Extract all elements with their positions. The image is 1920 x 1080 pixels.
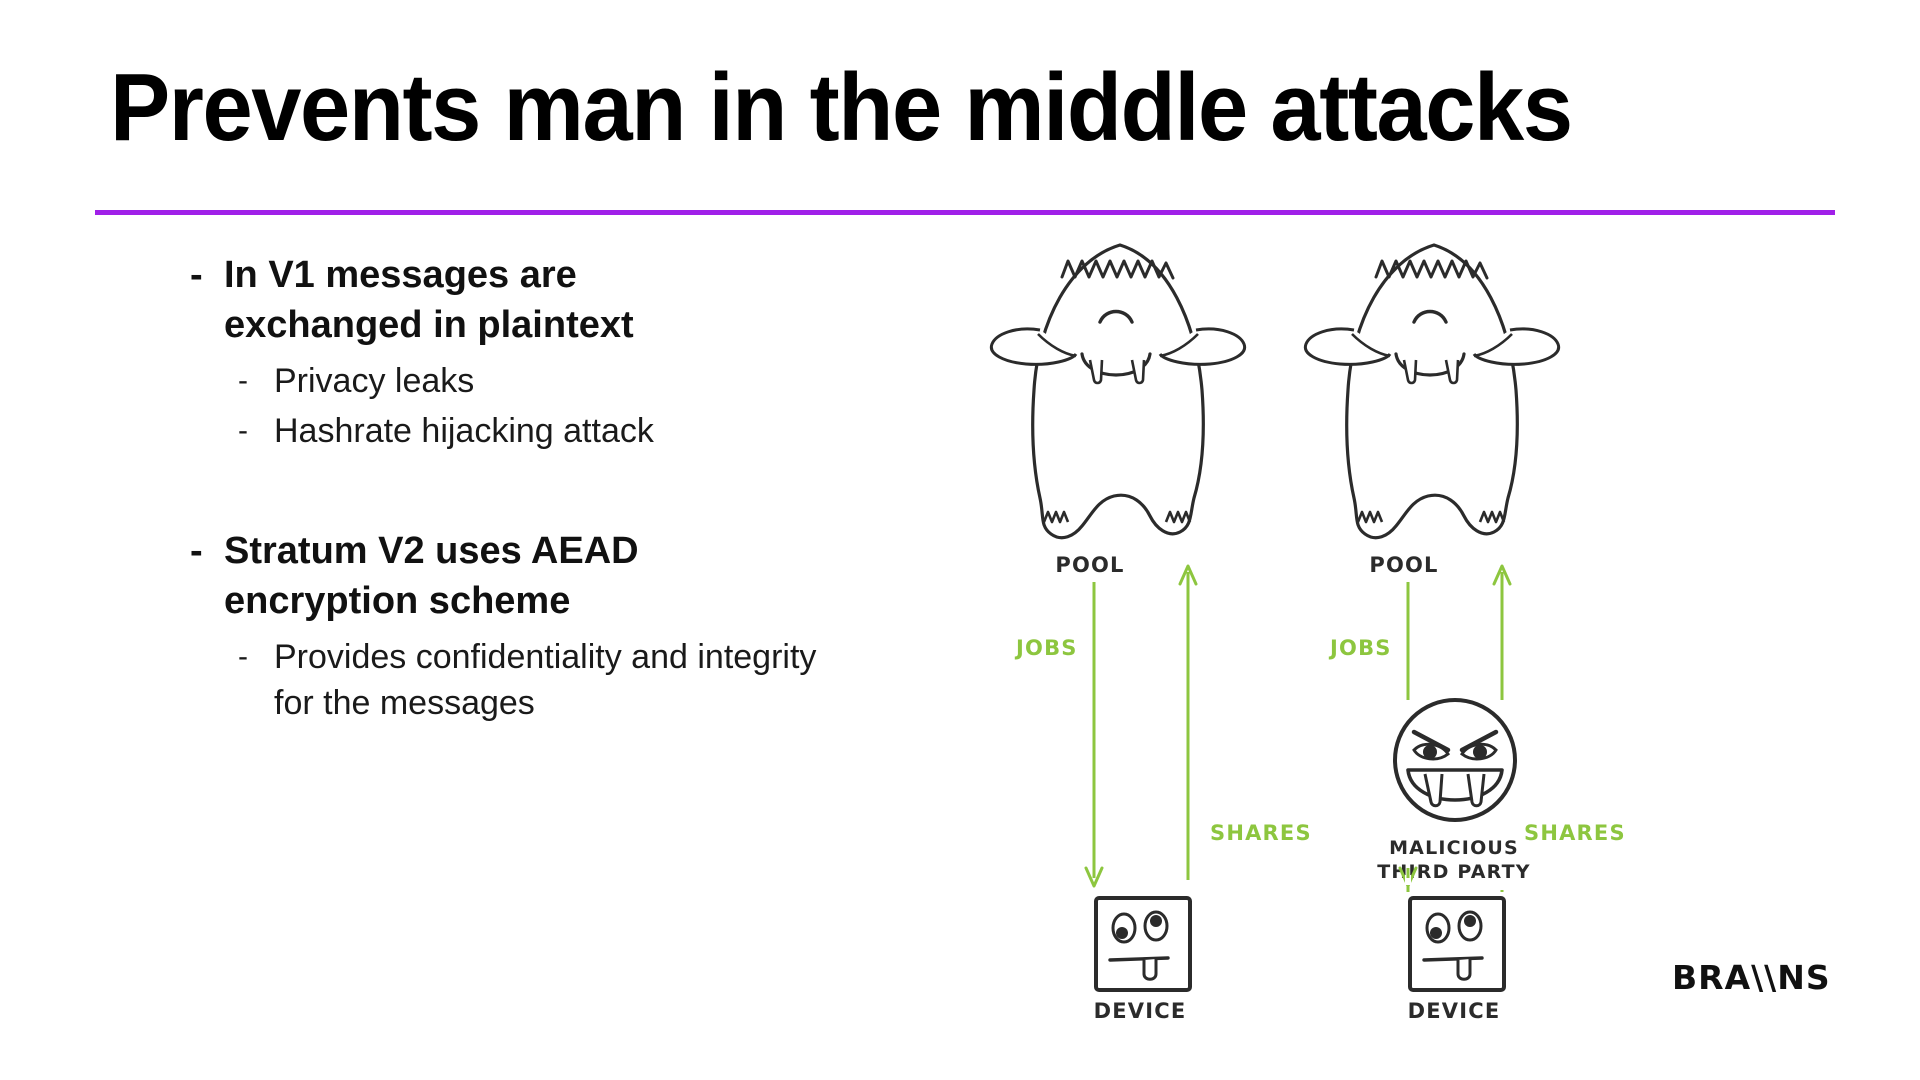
device-icon-left [1096,898,1190,990]
left-flow-group: POOL JOBS SHARES DEVICE [991,245,1311,1023]
bullet-heading-text: Stratum V2 uses AEAD encryption scheme [224,526,654,626]
shares-label-right: SHARES [1524,821,1626,845]
jobs-label-left: JOBS [1014,636,1078,660]
device-label-left: DEVICE [1094,999,1187,1023]
pool-monster-left [991,245,1244,538]
jobs-label-right: JOBS [1328,636,1392,660]
bullet-marker: - [190,526,224,576]
bullet-marker: - [190,250,224,300]
bullet-heading-2: - Stratum V2 uses AEAD encryption scheme [190,526,870,626]
sub-bullet-text: Provides confidentiality and integrity f… [274,634,819,726]
bullet-group-2: - Stratum V2 uses AEAD encryption scheme… [190,526,870,726]
attacker-label-line1: MALICIOUS [1389,837,1519,859]
pool-label-left: POOL [1055,553,1124,577]
slide-root: Prevents man in the middle attacks - In … [0,0,1920,1080]
shares-arrow-right-upper [1494,566,1510,700]
shares-label-left: SHARES [1210,821,1312,845]
device-icon-right [1410,898,1504,990]
sub-bullet-1-1: - Privacy leaks [238,358,870,404]
sub-bullet-marker: - [238,634,274,680]
sub-bullet-text: Privacy leaks [274,358,819,404]
braiins-logo: BRA\\NS [1672,958,1831,997]
bullet-content: - In V1 messages are exchanged in plaint… [190,250,870,726]
sub-bullet-marker: - [238,408,274,454]
bullet-heading-text: In V1 messages are exchanged in plaintex… [224,250,654,350]
jobs-arrow-left [1086,582,1102,886]
pool-monster-right [1305,245,1558,538]
shares-arrow-left [1180,566,1196,880]
sub-bullet-2-1: - Provides confidentiality and integrity… [238,634,870,726]
bullet-group-1: - In V1 messages are exchanged in plaint… [190,250,870,454]
bullet-heading-1: - In V1 messages are exchanged in plaint… [190,250,870,350]
sub-bullet-text: Hashrate hijacking attack [274,408,819,454]
pool-label-right: POOL [1369,553,1438,577]
sub-bullet-marker: - [238,358,274,404]
bullet-group-spacer [190,454,870,526]
right-flow-group: POOL JOBS MALICIOUS THIRD PARTY [1305,245,1625,1023]
sub-bullet-1-2: - Hashrate hijacking attack [238,408,870,454]
page-title: Prevents man in the middle attacks [110,52,1746,164]
malicious-third-party-icon [1395,700,1515,820]
device-label-right: DEVICE [1408,999,1501,1023]
diagram-illustration: POOL JOBS SHARES DEVICE [980,230,1760,1060]
title-divider [95,210,1835,215]
